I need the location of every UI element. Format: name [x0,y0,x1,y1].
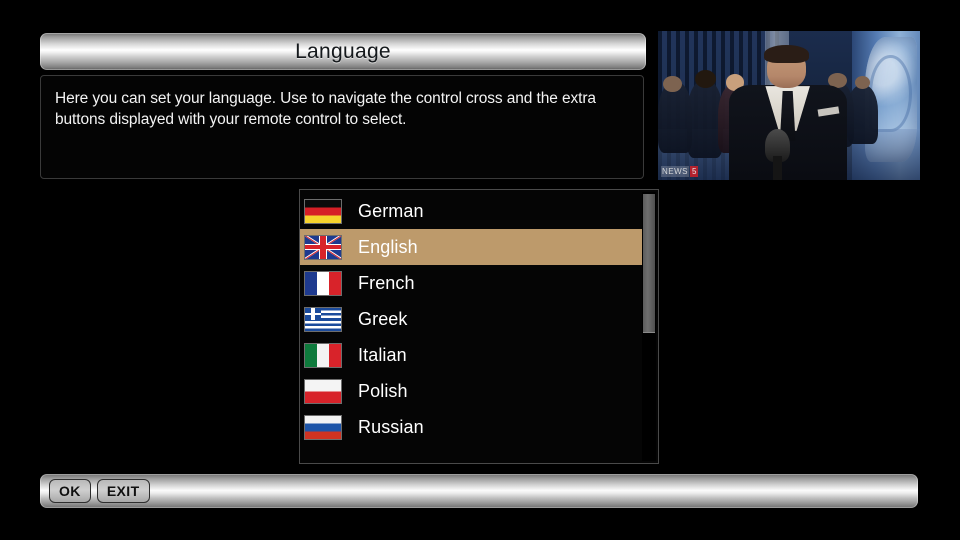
channel-logo-bug: NEWS 5 [661,165,698,178]
language-list: German English French [300,193,640,445]
channel-logo-badge: 5 [690,166,698,177]
list-item[interactable]: French [300,265,640,301]
page-title: Language [295,40,391,64]
list-item[interactable]: Greek [300,301,640,337]
flag-poland-icon [304,379,342,404]
list-item-label: French [358,273,415,294]
flag-italy-icon [304,343,342,368]
ok-button[interactable]: OK [49,479,91,503]
flag-russia-icon [304,415,342,440]
list-item-label: Italian [358,345,407,366]
live-video-preview[interactable]: NEWS 5 [658,31,920,180]
exit-button[interactable]: EXIT [97,479,150,503]
video-microphone-handle [773,156,782,180]
list-item[interactable]: English [300,229,642,265]
video-crowd-figure [847,85,878,145]
tv-settings-screen: Language Here you can set your language.… [0,0,960,540]
list-item-label: German [358,201,424,222]
video-crowd-head [855,76,871,89]
flag-greece-icon [304,307,342,332]
help-description-text: Here you can set your language. Use to n… [55,88,629,130]
list-item[interactable]: Italian [300,337,640,373]
flag-germany-icon [304,199,342,224]
list-item-label: Greek [358,309,408,330]
video-reporter-hair [764,45,809,63]
scrollbar-track[interactable] [642,192,656,461]
flag-united-kingdom-icon [304,235,342,260]
video-crowd-head [695,70,716,88]
list-item[interactable]: Polish [300,373,640,409]
list-item[interactable]: German [300,193,640,229]
list-item-label: Polish [358,381,408,402]
help-description-box: Here you can set your language. Use to n… [40,75,644,179]
dialog-title-bar: Language [40,33,646,70]
channel-logo-text: NEWS [661,166,689,177]
list-item-label: English [358,237,418,258]
list-item-label: Russian [358,417,424,438]
language-list-panel[interactable]: German English French [299,189,659,464]
flag-france-icon [304,271,342,296]
list-item[interactable]: Russian [300,409,640,445]
video-crowd-head [663,76,681,92]
scrollbar-thumb[interactable] [643,194,655,333]
footer-button-bar: OK EXIT [40,474,918,508]
